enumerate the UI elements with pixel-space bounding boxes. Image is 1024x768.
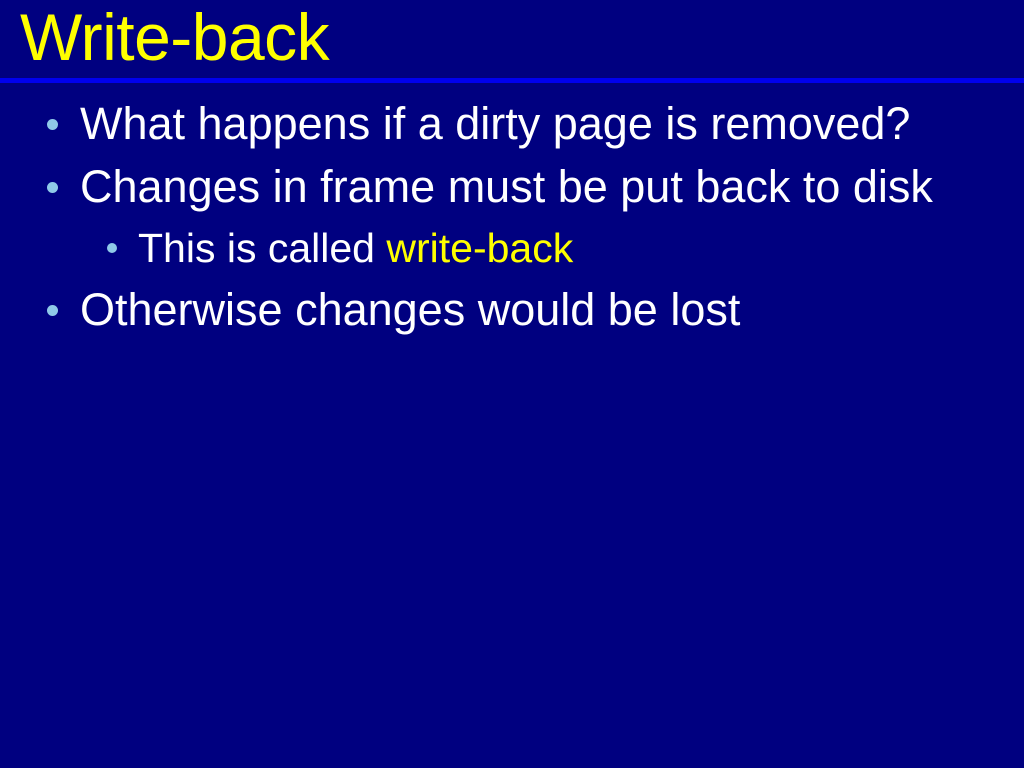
sub-list-item-label: This is called — [138, 225, 375, 271]
round-bullet-icon — [47, 119, 58, 130]
list-item-label: What happens if a dirty page is removed? — [80, 98, 910, 149]
list-item-label: Changes in frame must be put back to dis… — [80, 161, 933, 212]
sub-list-item-highlight: write-back — [386, 225, 573, 271]
round-bullet-icon — [47, 305, 58, 316]
list-item: What happens if a dirty page is removed? — [0, 92, 1024, 155]
title-divider-rule — [0, 78, 1024, 83]
presentation-slide: Write-back What happens if a dirty page … — [0, 0, 1024, 768]
sub-list-item: This is called write-back — [0, 218, 1024, 278]
round-bullet-icon — [107, 243, 117, 253]
list-item: Changes in frame must be put back to dis… — [0, 155, 1024, 218]
slide-body: What happens if a dirty page is removed?… — [0, 92, 1024, 341]
list-item: Otherwise changes would be lost — [0, 278, 1024, 341]
round-bullet-icon — [47, 182, 58, 193]
list-item-label: Otherwise changes would be lost — [80, 284, 740, 335]
page-title: Write-back — [20, 0, 329, 76]
slide-title-area: Write-back — [0, 0, 1024, 84]
